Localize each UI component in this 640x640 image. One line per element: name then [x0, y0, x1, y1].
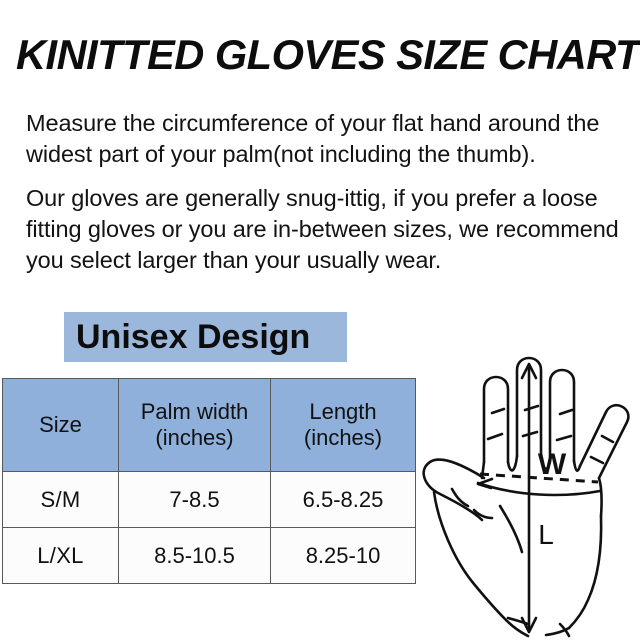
table-row: S/M 7-8.5 6.5-8.25 — [3, 472, 416, 528]
palm-right-outline — [569, 516, 601, 628]
table-header-row: Size Palm width (inches) Length (inches) — [3, 379, 416, 472]
pinky-crease-lower — [591, 457, 603, 463]
width-arrow-head — [478, 479, 492, 488]
ring-crease-upper — [560, 410, 572, 414]
unisex-design-banner: Unisex Design — [64, 312, 347, 362]
hand-measurement-diagram: W L — [412, 326, 640, 640]
width-label: W — [538, 448, 567, 481]
ring-crease-lower — [557, 436, 571, 440]
size-chart-table: Size Palm width (inches) Length (inches)… — [2, 378, 416, 584]
palm-width-band-line — [478, 483, 600, 495]
table-body: S/M 7-8.5 6.5-8.25 L/XL 8.5-10.5 8.25-10 — [3, 472, 416, 584]
cell-size: S/M — [3, 472, 119, 528]
cell-palm-width: 8.5-10.5 — [119, 528, 271, 584]
index-crease-upper — [492, 409, 504, 413]
column-header-length: Length (inches) — [271, 379, 416, 472]
column-header-size: Size — [3, 379, 119, 472]
pinky-finger-outline — [580, 405, 628, 478]
pinky-crease-upper — [602, 436, 613, 442]
instruction-paragraph-measure: Measure the circumference of your flat h… — [26, 108, 626, 170]
size-chart-page: KINITTED GLOVES SIZE CHART Measure the c… — [0, 0, 640, 640]
cell-size: L/XL — [3, 528, 119, 584]
column-header-palm-width: Palm width (inches) — [119, 379, 271, 472]
table-header: Size Palm width (inches) Length (inches) — [3, 379, 416, 472]
index-finger-outline — [484, 377, 508, 462]
column-header-size-line1: Size — [39, 412, 82, 437]
column-header-length-line2: (inches) — [271, 425, 415, 451]
web-index-middle — [508, 456, 517, 470]
column-header-palm-width-line2: (inches) — [119, 425, 270, 451]
page-title: KINITTED GLOVES SIZE CHART — [16, 33, 620, 77]
length-label: L — [538, 519, 554, 550]
column-header-length-line1: Length — [309, 399, 376, 424]
cell-length: 6.5-8.25 — [271, 472, 416, 528]
index-crease-lower — [488, 434, 502, 439]
palm-right-upper-edge — [599, 478, 602, 516]
table-row: L/XL 8.5-10.5 8.25-10 — [3, 528, 416, 584]
hand-outline-icon: W L — [412, 326, 640, 640]
unisex-design-label: Unisex Design — [76, 316, 310, 358]
instruction-paragraph-fit: Our gloves are generally snug-ittig, if … — [26, 183, 626, 276]
web-ring-pinky — [574, 461, 580, 471]
middle-crease-upper — [525, 406, 538, 410]
cell-length: 8.25-10 — [271, 528, 416, 584]
column-header-palm-width-line1: Palm width — [141, 399, 249, 424]
palm-crease-line — [500, 506, 522, 552]
cell-palm-width: 7-8.5 — [119, 472, 271, 528]
